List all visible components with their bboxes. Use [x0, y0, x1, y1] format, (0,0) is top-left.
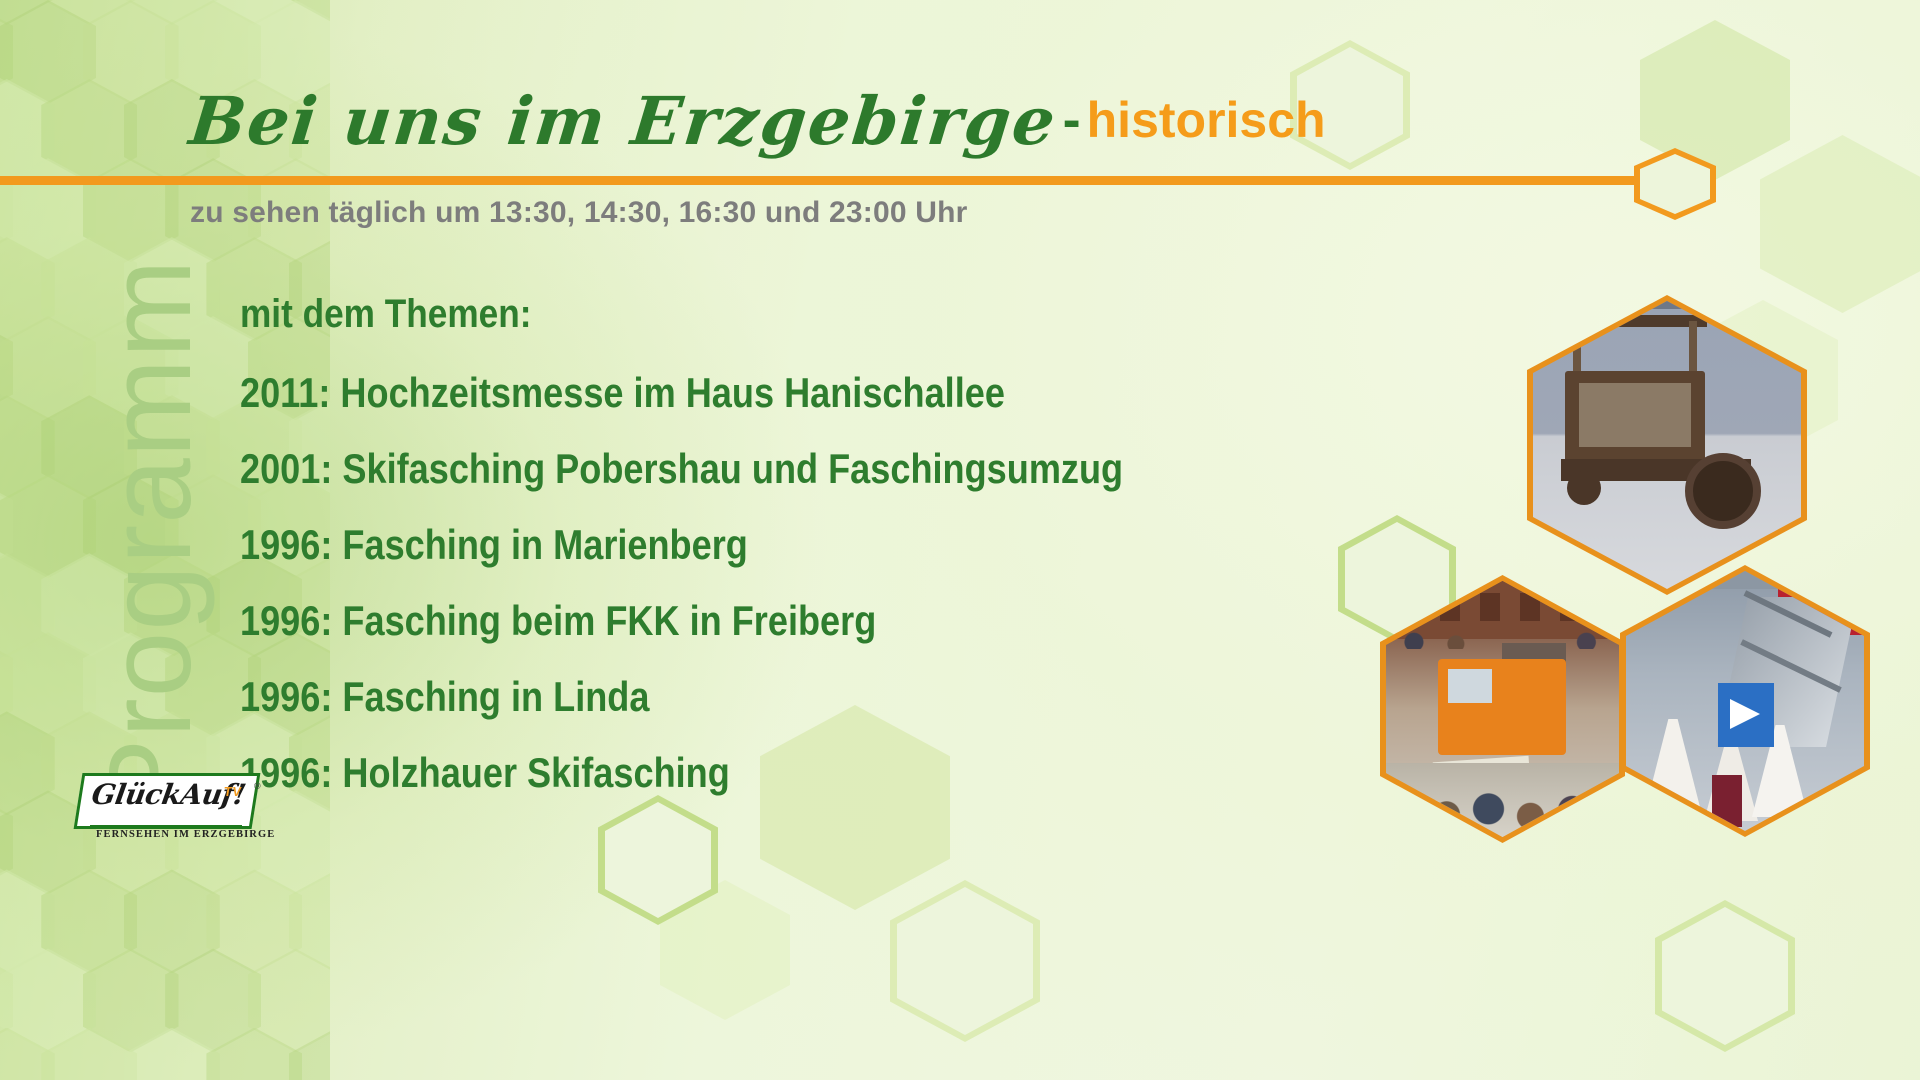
decor-hexagon-outline: [890, 880, 1040, 1042]
logo-tv-text: TV: [223, 784, 243, 799]
page-title-script: Bei uns im Erzgebirge: [187, 88, 1061, 154]
header-rule-end-hexagon: [1634, 148, 1716, 220]
topics-heading: mit dem Themen:: [240, 292, 531, 337]
list-item: 1996: Fasching in Marienberg: [240, 524, 1123, 566]
decor-hexagon-outline: [1655, 900, 1795, 1052]
page-title-dash: -: [1057, 90, 1087, 150]
list-item: 2011: Hochzeitsmesse im Haus Hanischalle…: [240, 372, 1123, 414]
photo-wedding-fair-dresses: [1620, 565, 1870, 837]
list-item: 1996: Fasching beim FKK in Freiberg: [240, 600, 1123, 642]
list-item: 2001: Skifasching Pobershau und Fasching…: [240, 448, 1123, 490]
list-item: 1996: Fasching in Linda: [240, 676, 1123, 718]
topics-list: 2011: Hochzeitsmesse im Haus Hanischalle…: [240, 372, 1267, 828]
channel-logo[interactable]: GlückAuf! TV ® FERNSEHEN IM ERZGEBIRGE: [78, 773, 258, 845]
page-title: Bei uns im Erzgebirge-historisch: [190, 88, 1326, 154]
list-item: 1996: Holzhauer Skifasching: [240, 752, 1123, 794]
page-title-accent: historisch: [1087, 92, 1326, 148]
logo-registered-mark: ®: [254, 781, 261, 791]
decor-hexagon: [1760, 135, 1920, 313]
logo-underline: [90, 825, 242, 827]
slide-canvas: Bei uns im Erzgebirge-historisch zu sehe…: [0, 0, 1920, 1080]
broadcast-times-subtitle: zu sehen täglich um 13:30, 14:30, 16:30 …: [190, 196, 968, 230]
header-divider-rule: [0, 176, 1655, 185]
logo-tagline: FERNSEHEN IM ERZGEBIRGE: [96, 829, 296, 840]
